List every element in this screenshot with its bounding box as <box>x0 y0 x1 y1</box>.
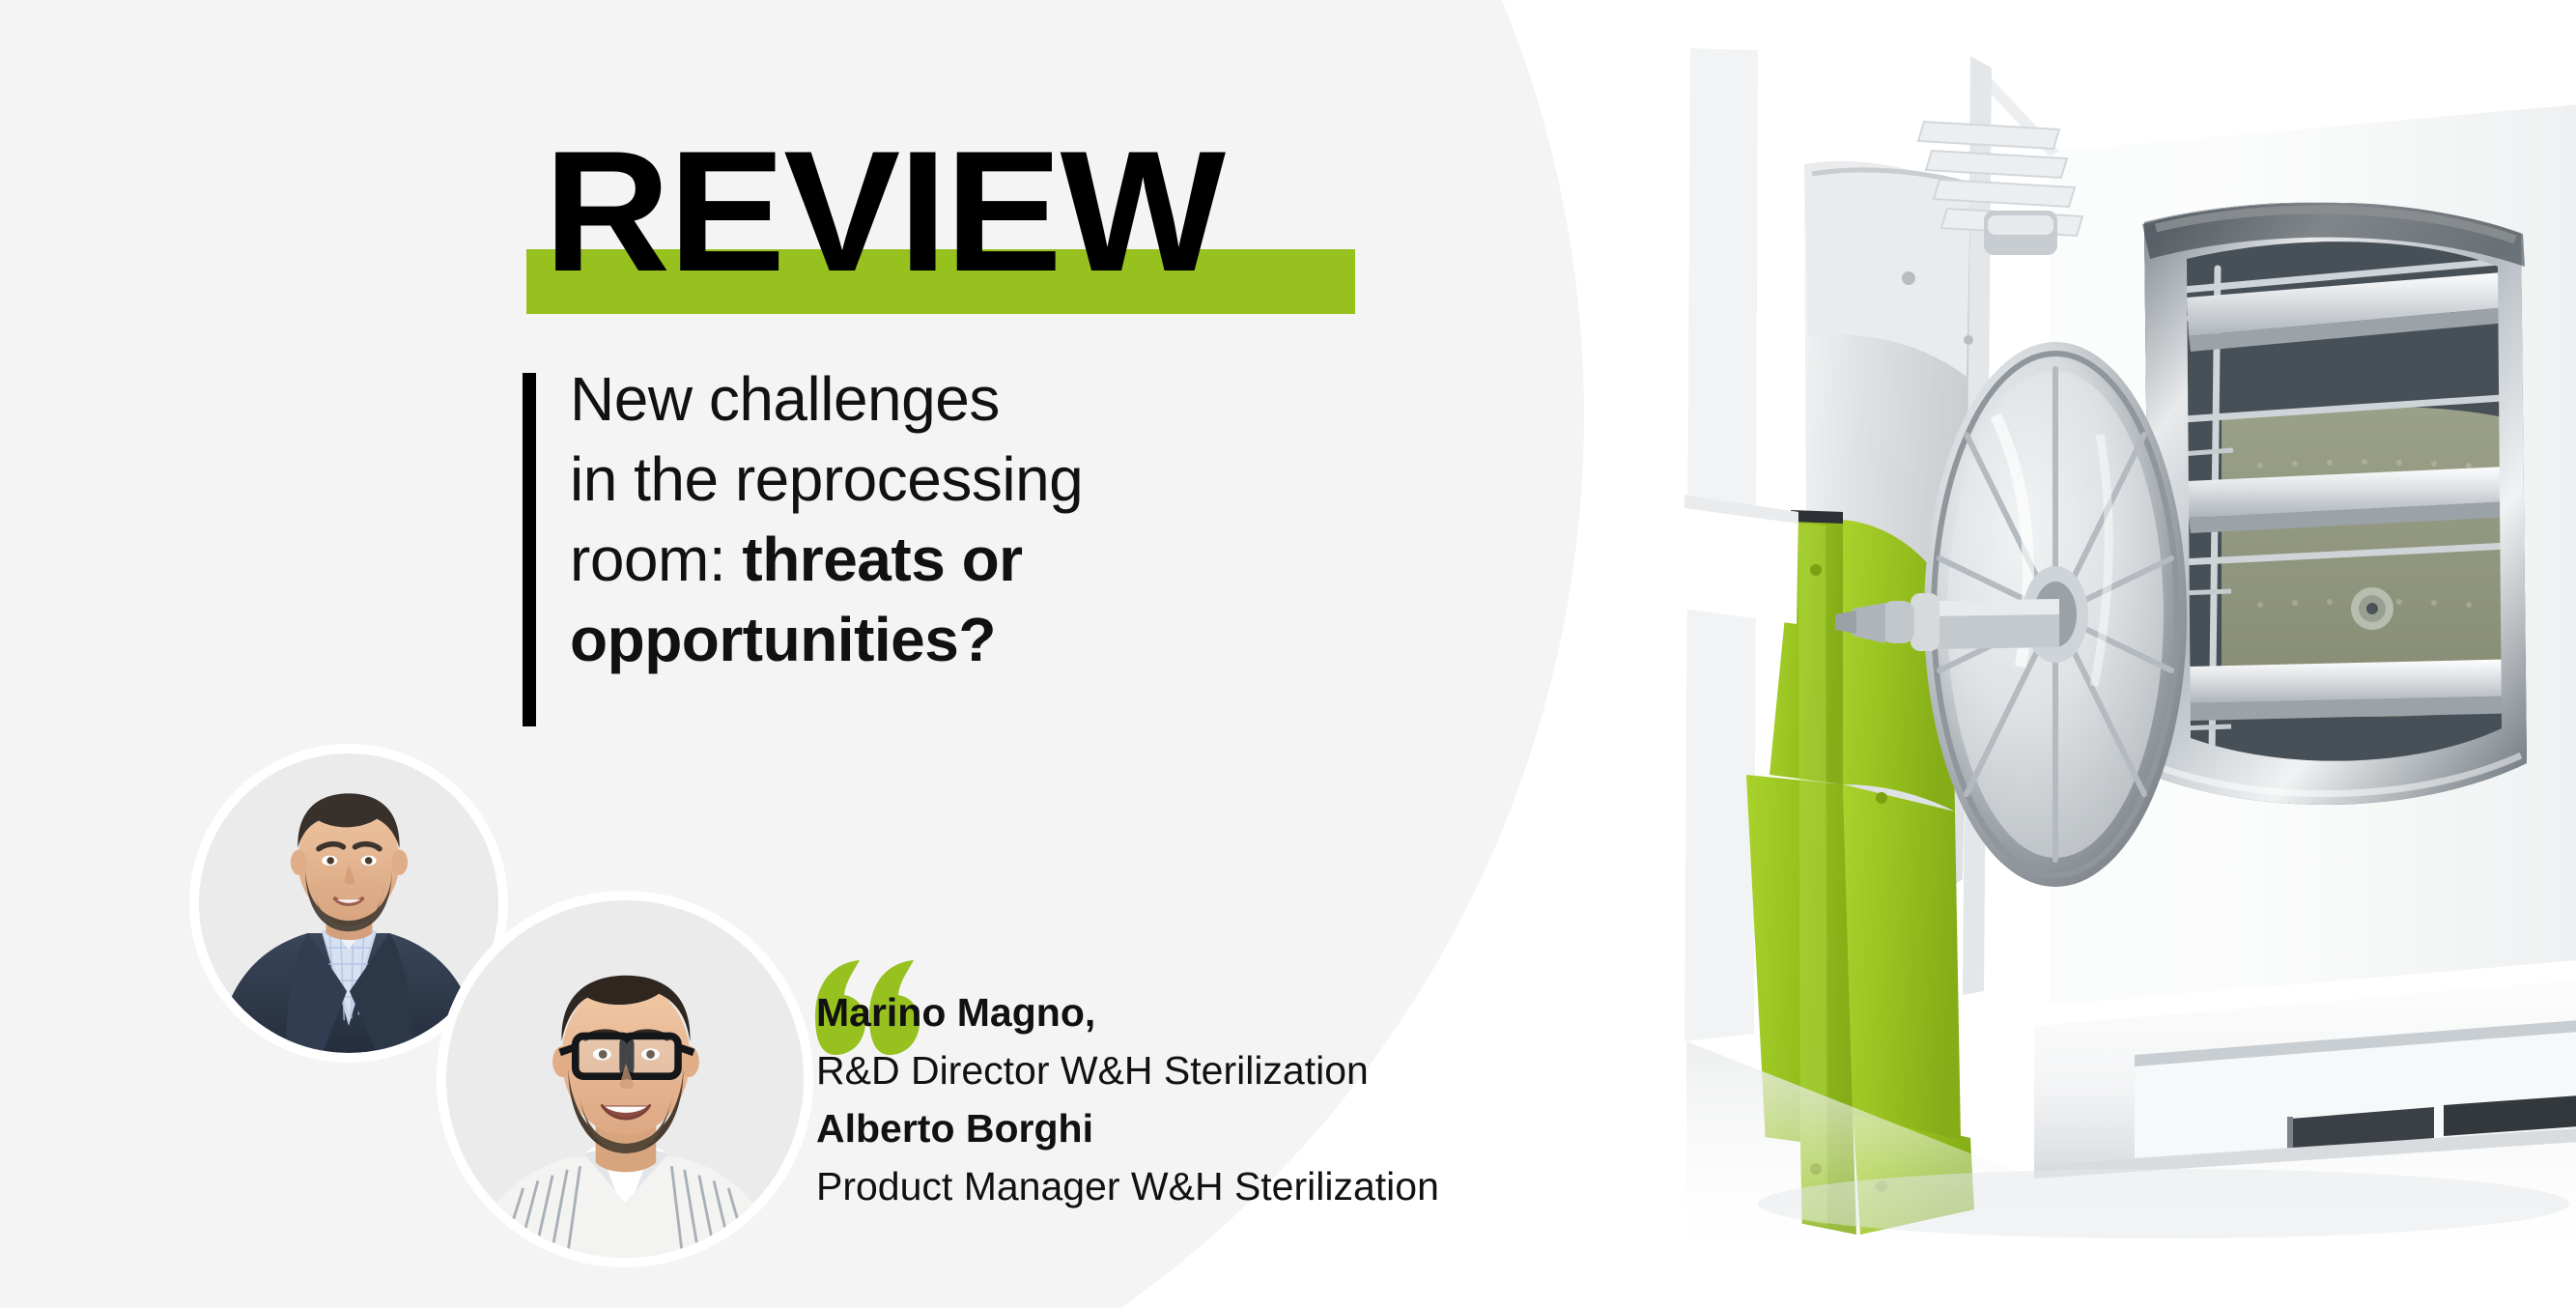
avatar-alberto-borghi-illustration <box>446 900 804 1258</box>
subtitle-text: New challenges in the reprocessing room:… <box>570 359 1516 680</box>
avatar-alberto-borghi <box>437 891 813 1267</box>
steam-sterilizer-illustration <box>1681 29 2576 1275</box>
subtitle-accent-rule <box>523 373 536 726</box>
subtitle-line-2: in the reprocessing <box>570 444 1083 514</box>
subtitle-line-4-bold: opportunities? <box>570 605 996 674</box>
author-role-2: Product Manager W&H Sterilization <box>816 1157 1589 1215</box>
author-name-2: Alberto Borghi <box>816 1099 1589 1157</box>
subtitle-line-1: New challenges <box>570 364 1000 434</box>
subtitle-line-3-bold: threats or <box>742 525 1022 594</box>
subtitle-line-3-normal: room: <box>570 525 742 594</box>
title-block: REVIEW <box>526 126 1473 328</box>
author-credits: Marino Magno, R&D Director W&H Steriliza… <box>816 983 1589 1215</box>
author-role-1: R&D Director W&H Sterilization <box>816 1041 1589 1099</box>
page-title: REVIEW <box>544 126 1224 298</box>
banner-canvas: REVIEW New challenges in the reprocessin… <box>0 0 2576 1308</box>
author-name-1: Marino Magno, <box>816 983 1589 1041</box>
steam-sterilizer-autoclave <box>1681 29 2576 1275</box>
